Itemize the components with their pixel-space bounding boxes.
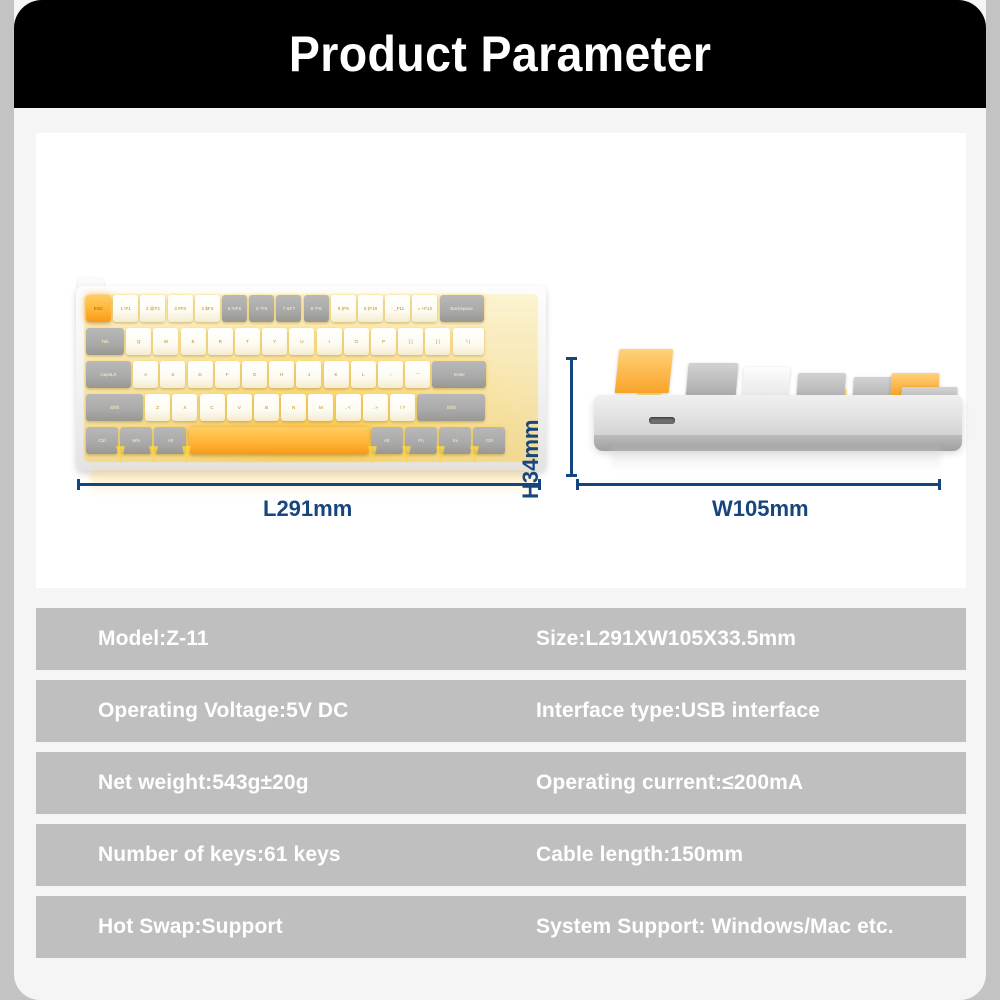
key-8[interactable]: 8 *F8 — [304, 295, 329, 322]
key-v[interactable]: V — [227, 394, 252, 421]
spec-cell-left: Number of keys:61 keys — [98, 843, 341, 867]
spec-row: Hot Swap:SupportSystem Support: Windows/… — [36, 896, 966, 958]
key-enter[interactable]: Enter — [432, 361, 486, 388]
key-d[interactable]: D — [188, 361, 213, 388]
key-shift[interactable]: Shift — [86, 394, 143, 421]
key-2[interactable]: 2 @F2 — [140, 295, 165, 322]
key-ctrl[interactable]: Ctrl — [473, 427, 505, 454]
key-esc[interactable]: ESC — [86, 295, 111, 322]
usb-c-port — [649, 417, 675, 424]
key-k[interactable]: K — [324, 361, 349, 388]
spec-cell-right: Operating current:≤200mA — [536, 771, 803, 795]
key-p[interactable]: P — [371, 328, 396, 355]
key-sym10[interactable]: ; : — [378, 361, 403, 388]
desk-reflection-side — [611, 449, 941, 471]
key-1[interactable]: 1 !F1 — [113, 295, 138, 322]
spec-cell-left: Hot Swap:Support — [98, 915, 283, 939]
key-sym11[interactable]: - _F11 — [385, 295, 410, 322]
key-sym11[interactable]: [ { — [398, 328, 423, 355]
dimension-label-height: H34mm — [518, 420, 544, 499]
keyboard-row-2: TabQWERTYUIOP[ {] }\ | — [86, 328, 536, 359]
spec-cell-right: System Support: Windows/Mac etc. — [536, 915, 894, 939]
spec-row: Model:Z-11Size:L291XW105X33.5mm — [36, 608, 966, 670]
key-shift[interactable]: Shift — [417, 394, 485, 421]
key-t[interactable]: T — [235, 328, 260, 355]
spec-cell-left: Net weight:543g±20g — [98, 771, 309, 795]
key-sym13[interactable]: \ | — [453, 328, 484, 355]
header-banner: Product Parameter — [14, 0, 986, 108]
key-b[interactable]: B — [254, 394, 279, 421]
key-u[interactable]: U — [289, 328, 314, 355]
key-f[interactable]: F — [215, 361, 240, 388]
spec-cell-right: Cable length:150mm — [536, 843, 743, 867]
specification-table: Model:Z-11Size:L291XW105X33.5mmOperating… — [36, 608, 966, 968]
key-y[interactable]: Y — [262, 328, 287, 355]
keyboard-row-4: ShiftZXCVBNM, <. >/ ?Shift — [86, 394, 536, 425]
key-5[interactable]: 5 %F5 — [222, 295, 247, 322]
key-n[interactable]: N — [281, 394, 306, 421]
key-6[interactable]: 6 ^F6 — [249, 295, 274, 322]
key-j[interactable]: J — [296, 361, 321, 388]
key-sym8[interactable]: , < — [336, 394, 361, 421]
side-keycap-2 — [685, 363, 738, 399]
key-e[interactable]: E — [181, 328, 206, 355]
key-0[interactable]: 0 )F10 — [358, 295, 383, 322]
key-capslk[interactable]: CapsLK — [86, 361, 131, 388]
key-tab[interactable]: Tab — [86, 328, 124, 355]
key-space[interactable] — [189, 427, 369, 454]
key-7[interactable]: 7 &F7 — [276, 295, 301, 322]
side-keycap-esc — [615, 349, 674, 393]
key-s[interactable]: S — [160, 361, 185, 388]
key-w[interactable]: W — [153, 328, 178, 355]
keyboard-top-view: ESC1 !F12 @F23 #F34 $F45 %F56 ^F67 &F78 … — [76, 278, 546, 473]
spec-row: Net weight:543g±20gOperating current:≤20… — [36, 752, 966, 814]
spec-row: Number of keys:61 keysCable length:150mm — [36, 824, 966, 886]
key-g[interactable]: G — [242, 361, 267, 388]
key-a[interactable]: A — [133, 361, 158, 388]
key-alt[interactable]: Alt — [154, 427, 186, 454]
key-c[interactable]: C — [200, 394, 225, 421]
spec-cell-right: Interface type:USB interface — [536, 699, 820, 723]
key-l[interactable]: L — [351, 361, 376, 388]
dimension-line-height — [570, 357, 573, 477]
key-3[interactable]: 3 #F3 — [168, 295, 193, 322]
key-i[interactable]: I — [317, 328, 342, 355]
key-r[interactable]: R — [208, 328, 233, 355]
product-spec-page: Product Parameter ESC1 !F12 @F23 #F34 $F… — [14, 0, 986, 1000]
dimension-line-width — [576, 483, 941, 486]
key-o[interactable]: O — [344, 328, 369, 355]
dimension-label-length: L291mm — [263, 496, 352, 522]
key-backspace[interactable]: Backspace — [440, 295, 484, 322]
key-9[interactable]: 9 (F9 — [331, 295, 356, 322]
key-sym10[interactable]: / ? — [390, 394, 415, 421]
page-title: Product Parameter — [289, 25, 711, 83]
dimension-label-width: W105mm — [712, 496, 809, 522]
spec-cell-left: Operating Voltage:5V DC — [98, 699, 348, 723]
key-sym11[interactable]: ' " — [405, 361, 430, 388]
key-x[interactable]: X — [172, 394, 197, 421]
dimension-line-length — [77, 483, 541, 486]
keyboard-row-3: CapsLKASDFGHJKL; :' "Enter — [86, 361, 536, 392]
spec-cell-left: Model:Z-11 — [98, 627, 209, 651]
key-h[interactable]: H — [269, 361, 294, 388]
key-4[interactable]: 4 $F4 — [195, 295, 220, 322]
keyboard-row-1: ESC1 !F12 @F23 #F34 $F45 %F56 ^F67 &F78 … — [86, 295, 536, 326]
key-sym9[interactable]: . > — [363, 394, 388, 421]
key-z[interactable]: Z — [145, 394, 170, 421]
spec-row: Operating Voltage:5V DCInterface type:US… — [36, 680, 966, 742]
key-sym12[interactable]: = +F12 — [412, 295, 437, 322]
key-win[interactable]: Win — [120, 427, 152, 454]
key-m[interactable]: M — [308, 394, 333, 421]
key-sym12[interactable]: ] } — [425, 328, 450, 355]
keycap-grid: ESC1 !F12 @F23 #F34 $F45 %F56 ^F67 &F78 … — [86, 295, 536, 461]
spec-cell-right: Size:L291XW105X33.5mm — [536, 627, 796, 651]
key-q[interactable]: Q — [126, 328, 151, 355]
key-ctrl[interactable]: Ctrl — [86, 427, 118, 454]
product-image-panel: ESC1 !F12 @F23 #F34 $F45 %F56 ^F67 &F78 … — [36, 133, 966, 588]
keyboard-side-view — [591, 343, 966, 473]
